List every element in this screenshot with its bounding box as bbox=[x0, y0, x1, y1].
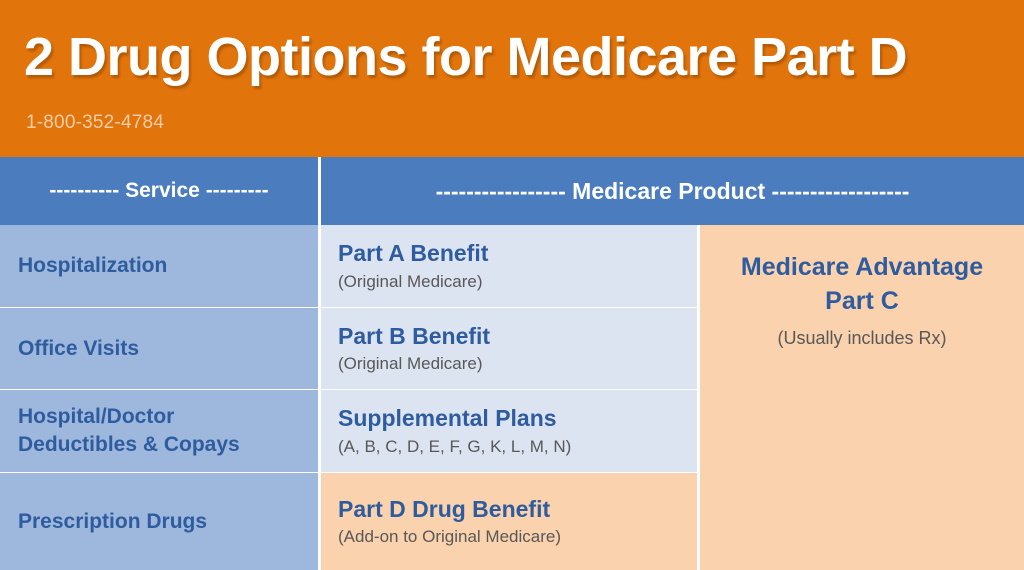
service-label-deductibles-line1: Hospital/Doctor bbox=[18, 403, 318, 431]
medicare-part-d-infographic: 2 Drug Options for Medicare Part D 1-800… bbox=[0, 0, 1024, 570]
product-cell-part-b: Part B Benefit (Original Medicare) bbox=[321, 308, 697, 389]
table-row: Office Visits bbox=[0, 308, 318, 389]
table-row: Prescription Drugs bbox=[0, 473, 318, 570]
column-header-medicare-product: ----------------- Medicare Product -----… bbox=[321, 157, 1024, 225]
column-header-service: ---------- Service --------- bbox=[0, 157, 318, 225]
product-title-part-d: Part D Drug Benefit bbox=[338, 496, 697, 524]
table-body: Hospitalization Part A Benefit (Original… bbox=[0, 225, 1024, 570]
service-label-office-visits: Office Visits bbox=[18, 335, 318, 363]
service-label-hospitalization: Hospitalization bbox=[18, 252, 318, 280]
comparison-table: ---------- Service --------- -----------… bbox=[0, 157, 1024, 570]
page-title: 2 Drug Options for Medicare Part D bbox=[24, 26, 907, 88]
table-row: Hospital/Doctor Deductibles & Copays bbox=[0, 390, 318, 472]
product-cell-medicare-advantage: Medicare Advantage Part C (Usually inclu… bbox=[700, 225, 1024, 570]
advantage-title-line2: Part C bbox=[825, 285, 899, 319]
product-subtitle-part-a: (Original Medicare) bbox=[338, 272, 697, 292]
phone-number: 1-800-352-4784 bbox=[26, 112, 164, 134]
advantage-title-line1: Medicare Advantage bbox=[741, 251, 983, 285]
advantage-subtitle: (Usually includes Rx) bbox=[777, 328, 946, 349]
product-title-supplemental: Supplemental Plans bbox=[338, 405, 697, 433]
service-label-prescription-drugs: Prescription Drugs bbox=[18, 508, 318, 536]
product-cell-part-a: Part A Benefit (Original Medicare) bbox=[321, 225, 697, 307]
product-title-part-a: Part A Benefit bbox=[338, 240, 697, 268]
product-subtitle-part-d: (Add-on to Original Medicare) bbox=[338, 527, 697, 547]
table-row: Hospitalization bbox=[0, 225, 318, 307]
banner: 2 Drug Options for Medicare Part D 1-800… bbox=[0, 0, 1024, 157]
product-cell-part-d: Part D Drug Benefit (Add-on to Original … bbox=[321, 473, 697, 570]
product-subtitle-supplemental: (A, B, C, D, E, F, G, K, L, M, N) bbox=[338, 437, 697, 457]
product-title-part-b: Part B Benefit bbox=[338, 323, 697, 351]
service-label-deductibles-line2: Deductibles & Copays bbox=[18, 431, 318, 459]
product-cell-supplemental: Supplemental Plans (A, B, C, D, E, F, G,… bbox=[321, 390, 697, 472]
product-subtitle-part-b: (Original Medicare) bbox=[338, 354, 697, 374]
table-header-row: ---------- Service --------- -----------… bbox=[0, 157, 1024, 225]
